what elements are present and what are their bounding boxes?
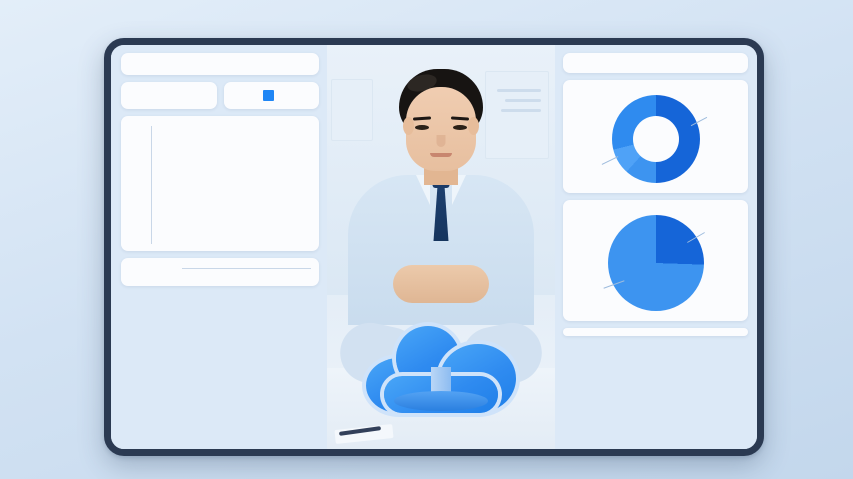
cloud-base: [394, 391, 488, 411]
background-board: [485, 71, 549, 159]
bar-series: [152, 126, 311, 244]
donut-plot-area: [569, 91, 742, 187]
mouth: [430, 153, 452, 157]
background-line: [501, 109, 541, 112]
x-axis-ticks: [129, 271, 311, 281]
background-line: [497, 89, 541, 92]
metrics-table-card: [563, 328, 748, 336]
color-swatch-icon: [263, 90, 274, 101]
necktie: [434, 183, 449, 241]
pie-chart-card: [563, 200, 748, 321]
leader-line: [602, 156, 619, 165]
cloud-sculpture: [366, 318, 516, 413]
device-screen: [111, 45, 757, 449]
tablet-device-frame: [104, 38, 764, 456]
folded-hands: [393, 265, 489, 303]
background-board: [331, 79, 373, 141]
nose: [437, 135, 446, 147]
legend-chip-row: [121, 82, 319, 109]
right-dashboard-panel: [555, 45, 757, 449]
right-title-card: [563, 53, 748, 73]
background-line: [505, 99, 541, 102]
horizontal-bar-chart-card: [121, 258, 319, 286]
donut-chart-card: [563, 80, 748, 193]
chip-ratio[interactable]: [224, 82, 320, 109]
pie-chart: [608, 215, 704, 311]
scene: [0, 0, 853, 479]
axis-line: [182, 268, 311, 269]
ear-right: [468, 117, 479, 135]
plot-area: [151, 126, 311, 244]
chip-traditional-it[interactable]: [121, 82, 217, 109]
x-axis-ticks: [129, 244, 311, 246]
vertical-bar-chart-plot: [129, 126, 311, 244]
businessman-cloud-photo: [327, 45, 555, 449]
vertical-bar-chart-card: [121, 116, 319, 251]
donut-chart: [612, 95, 700, 183]
pie-plot-area: [569, 211, 742, 315]
center-photo-panel: [327, 45, 555, 449]
eye-right: [453, 125, 467, 130]
left-title-card: [121, 53, 319, 75]
y-axis-ticks: [129, 126, 151, 244]
left-dashboard-panel: [111, 45, 327, 449]
eye-left: [415, 125, 429, 130]
